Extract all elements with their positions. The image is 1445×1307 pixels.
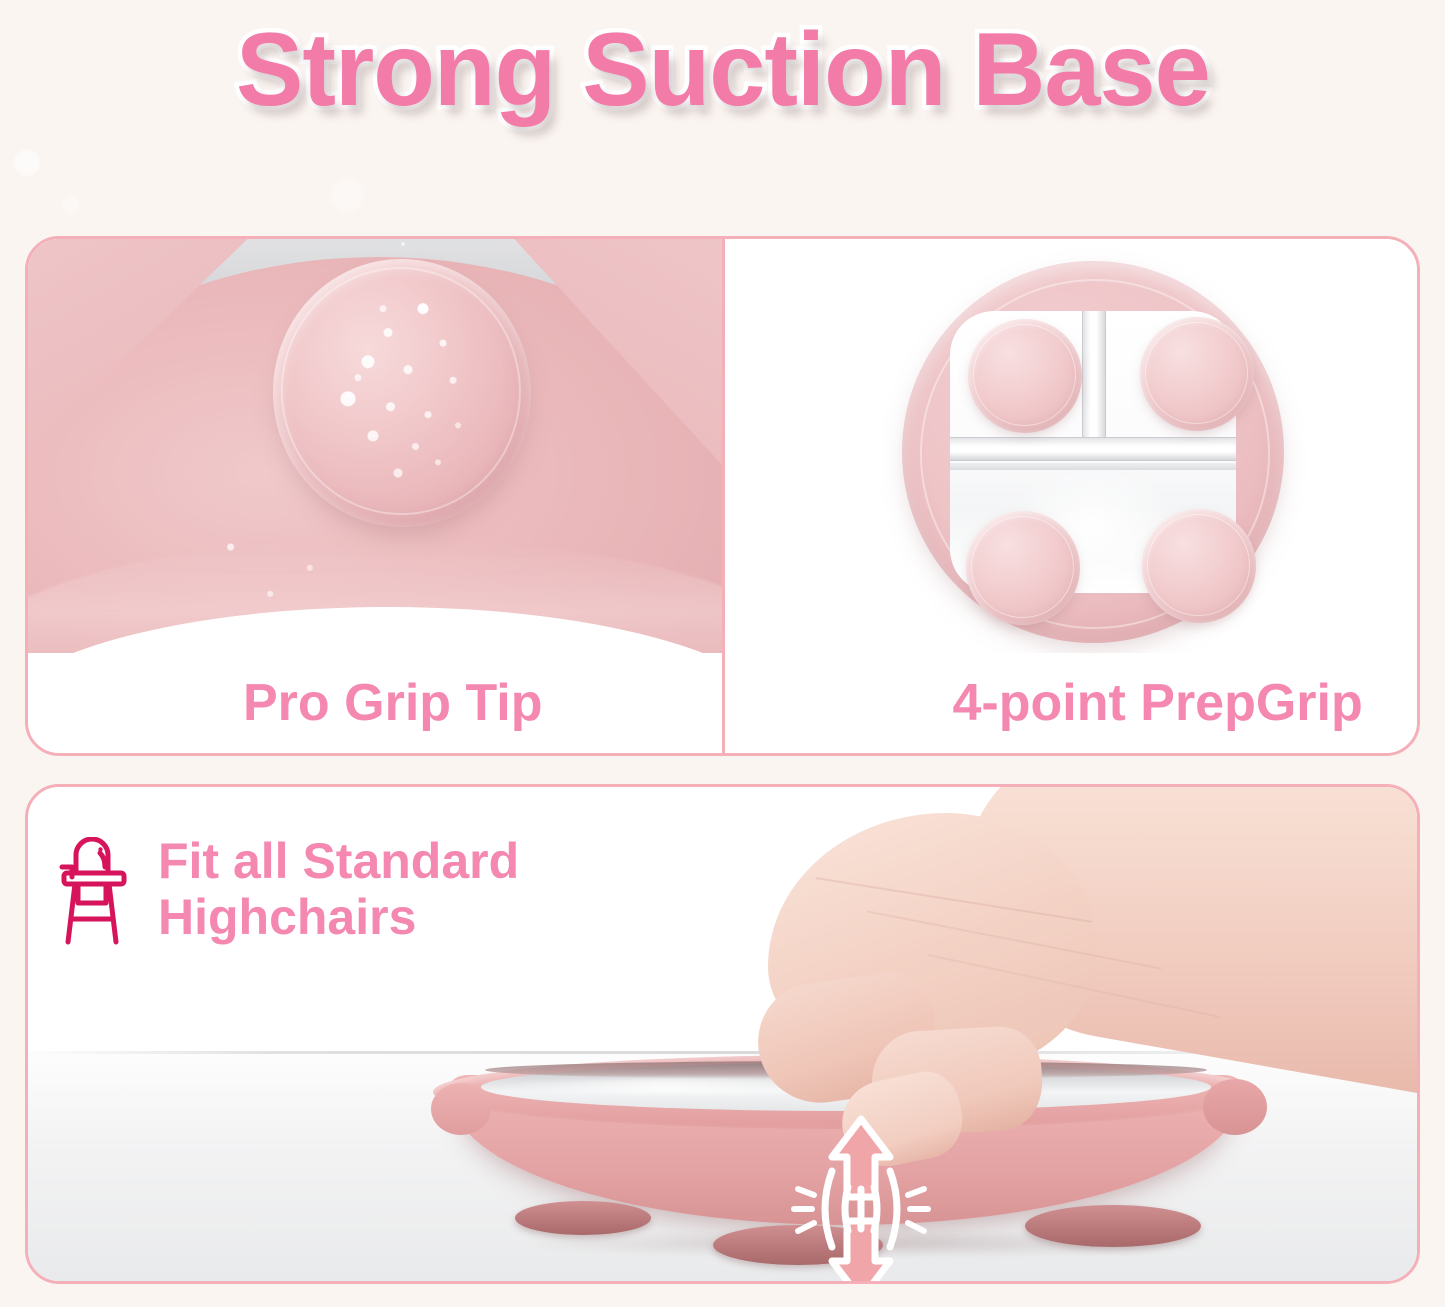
bottom-panel-content: Fit all Standard Highchairs — [28, 787, 1417, 1281]
bowl-left-tab — [431, 1083, 491, 1135]
highchair-feature-text: Fit all Standard Highchairs — [158, 833, 519, 945]
page-title: Strong Suction Base — [236, 11, 1210, 130]
bokeh-dot — [14, 150, 40, 176]
suction-force-icon — [786, 1113, 936, 1281]
suction-foot-left — [515, 1201, 651, 1235]
feature-line-2: Highchairs — [158, 889, 519, 945]
bokeh-dot — [330, 178, 364, 212]
prep-grip-photo — [754, 239, 1420, 659]
highchair-feature: Fit all Standard Highchairs — [56, 833, 519, 949]
bottom-feature-panel: Fit all Standard Highchairs — [25, 784, 1420, 1284]
bokeh-dot — [62, 196, 80, 214]
caption-prep-grip: 4-point PrepGrip — [843, 673, 1363, 733]
caption-pro-grip-tip: Pro Grip Tip — [28, 673, 543, 733]
highchair-icon — [56, 837, 136, 949]
suction-pad-top-left — [968, 319, 1082, 433]
suction-pad-top-right — [1140, 317, 1254, 431]
suction-pad-bottom-right — [1142, 509, 1256, 623]
page-title-container: Strong Suction Base — [0, 0, 1445, 140]
feature-line-1: Fit all Standard — [158, 833, 519, 889]
suction-pad-bottom-left — [966, 511, 1080, 625]
pro-grip-tip-photo — [28, 239, 725, 659]
panel-divider — [722, 239, 725, 754]
suction-foot-right — [1025, 1205, 1201, 1247]
